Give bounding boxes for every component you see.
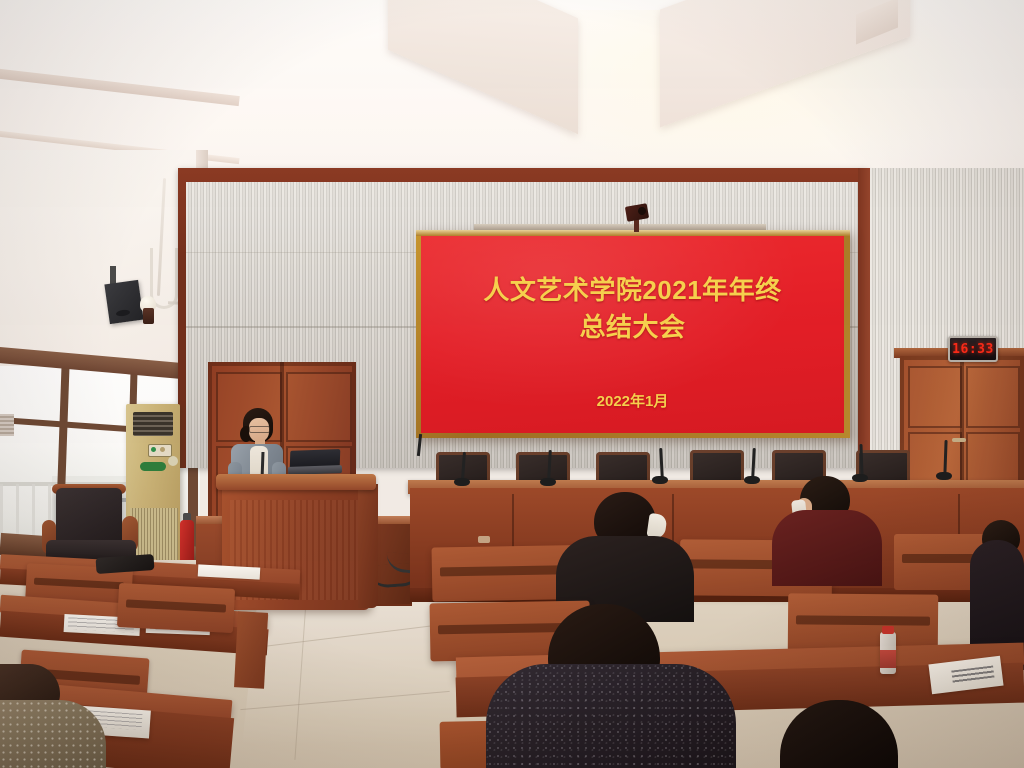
tweed-texture	[486, 664, 736, 768]
air-conditioner-led-icon	[160, 447, 165, 452]
microphone-base-icon	[744, 476, 760, 484]
banner-title-line-2: 总结大会	[421, 309, 844, 346]
water-bottle-label	[880, 650, 896, 668]
digital-clock: 16:33	[948, 336, 998, 362]
wall-lamp-body	[143, 308, 154, 324]
microphone-base-icon	[852, 474, 868, 482]
banner-title-block: 人文艺术学院2021年年终 总结大会	[421, 272, 844, 346]
right-wall-trim	[858, 168, 870, 468]
door-handle-icon[interactable]	[952, 438, 966, 442]
screen-top-trim	[416, 230, 850, 236]
microphone-base-icon	[936, 472, 952, 480]
chair-back-slot	[796, 615, 930, 625]
lectern-side-panel	[358, 484, 378, 608]
wall-speaker-icon	[104, 280, 143, 324]
glasses-icon	[249, 426, 270, 433]
head-table-chair[interactable]	[690, 450, 744, 484]
door-panel	[966, 366, 1020, 428]
air-conditioner-badge	[140, 462, 166, 471]
air-conditioner-led-icon	[151, 447, 156, 452]
head-table-latch-icon	[478, 536, 490, 543]
meeting-room-photo: 16:33 人文艺术学院2021年年终 总结大会 2022年1月	[0, 0, 1024, 768]
air-conditioner-grille-icon	[133, 412, 173, 436]
door-panel	[908, 366, 962, 428]
audience-desk-side	[234, 611, 268, 688]
leather-armchair-back[interactable]	[56, 488, 122, 546]
microphone-base-icon	[540, 478, 556, 486]
lectern-top-surface	[216, 474, 376, 490]
water-bottle-cap	[882, 626, 894, 634]
wall-vent	[0, 414, 14, 436]
door-panel	[286, 372, 352, 442]
banner-title-line-1: 人文艺术学院2021年年终	[421, 272, 844, 309]
attendee-right-maroon-body	[772, 510, 882, 586]
microphone-base-icon	[454, 478, 470, 486]
air-conditioner-logo-icon	[168, 456, 178, 466]
clock-time-display: 16:33	[952, 342, 994, 357]
microphone-base-icon	[652, 476, 668, 484]
banner-date-line: 2022年1月	[421, 390, 844, 411]
